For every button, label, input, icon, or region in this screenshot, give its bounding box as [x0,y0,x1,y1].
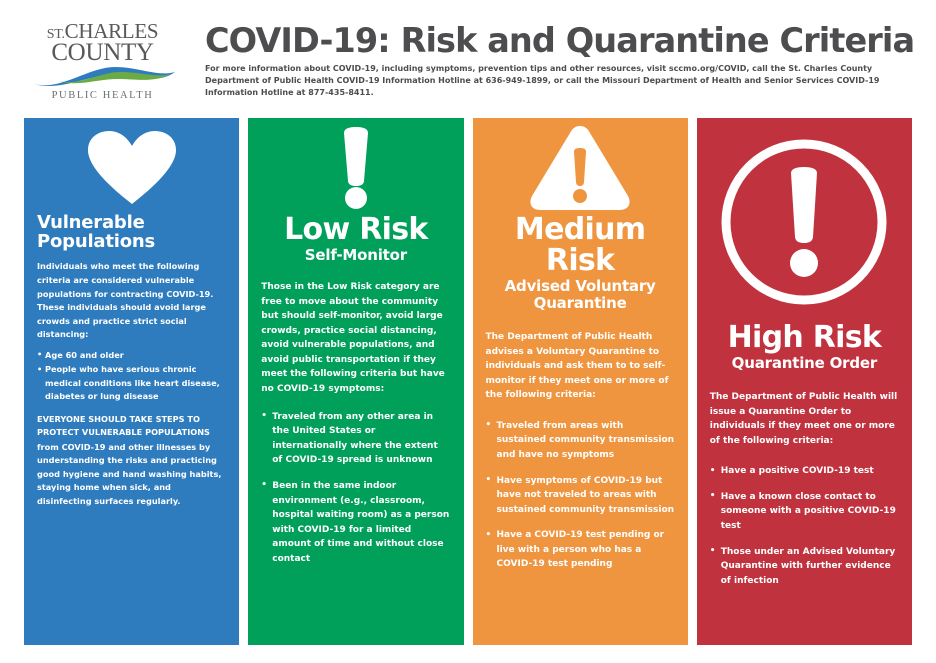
panel-subtitle-high-risk: Quarantine Order [710,355,899,372]
panel-bullets-vulnerable: Age 60 and older People who have serious… [37,349,226,404]
panel-subtitle-low-risk: Self-Monitor [261,247,450,264]
panel-low-risk: Low Risk Self-Monitor Those in the Low R… [248,118,463,645]
warning-triangle-icon-container [486,122,675,214]
list-item: Have a known close contact to someone wi… [710,490,899,534]
panel-medium-risk: Medium Risk Advised Voluntary Quarantine… [473,118,688,645]
logo-line-county: COUNTY [51,41,153,65]
panel-title-vulnerable: Vulnerable Populations [37,214,226,251]
page-title: COVID-19: Risk and Quarantine Criteria [205,24,922,58]
panel-bullets-high-risk: Have a positive COVID-19 test Have a kno… [710,464,899,588]
list-item: Have symptoms of COVID-19 but have not t… [486,474,675,518]
list-item: Those under an Advised Voluntary Quarant… [710,545,899,589]
list-item: Have a positive COVID-19 test [710,464,899,479]
panel-intro-vulnerable: Individuals who meet the following crite… [37,260,226,341]
exclamation-circle-icon-container [710,122,899,322]
agency-logo: ST.CHARLES COUNTY PUBLIC HEALTH [0,0,205,101]
panel-vulnerable-populations: Vulnerable Populations Individuals who m… [24,118,239,645]
panel-bullets-low-risk: Traveled from any other area in the Unit… [261,410,450,567]
warning-triangle-icon [528,124,632,212]
panel-high-risk: High Risk Quarantine Order The Departmen… [697,118,912,645]
panel-callout-vulnerable: EVERYONE SHOULD TAKE STEPS TO PROTECT VU… [37,413,226,440]
list-item: People who have serious chronic medical … [37,363,226,404]
risk-category-panels: Vulnerable Populations Individuals who m… [24,118,912,645]
page-subtitle: For more information about COVID-19, inc… [205,63,905,99]
panel-title-high-risk: High Risk [710,322,899,353]
panel-intro-high-risk: The Department of Public Health will iss… [710,390,899,448]
panel-subtitle-medium-risk: Advised Voluntary Quarantine [486,278,675,312]
exclamation-mark-icon [339,127,373,209]
heart-icon [86,130,178,206]
panel-title-low-risk: Low Risk [261,214,450,245]
list-item: Traveled from any other area in the Unit… [261,410,450,468]
heart-icon-container [37,122,226,214]
list-item: Have a COVID-19 test pending or live wit… [486,528,675,572]
header-text-block: COVID-19: Risk and Quarantine Criteria F… [205,0,936,100]
panel-intro-low-risk: Those in the Low Risk category are free … [261,280,450,397]
logo-tagline: PUBLIC HEALTH [52,90,154,101]
exclamation-circle-icon [721,139,887,305]
exclamation-mark-icon-container [261,122,450,214]
panel-outro-vulnerable: from COVID-19 and other illnesses by und… [37,441,226,509]
panel-intro-medium-risk: The Department of Public Health advises … [486,330,675,403]
panel-bullets-medium-risk: Traveled from areas with sustained commu… [486,419,675,572]
logo-swoosh-icon [29,63,177,89]
panel-title-medium-risk: Medium Risk [486,214,675,276]
page-header: ST.CHARLES COUNTY PUBLIC HEALTH COVID-19… [0,0,936,118]
list-item: Age 60 and older [37,349,226,363]
list-item: Traveled from areas with sustained commu… [486,419,675,463]
list-item: Been in the same indoor environment (e.g… [261,479,450,566]
